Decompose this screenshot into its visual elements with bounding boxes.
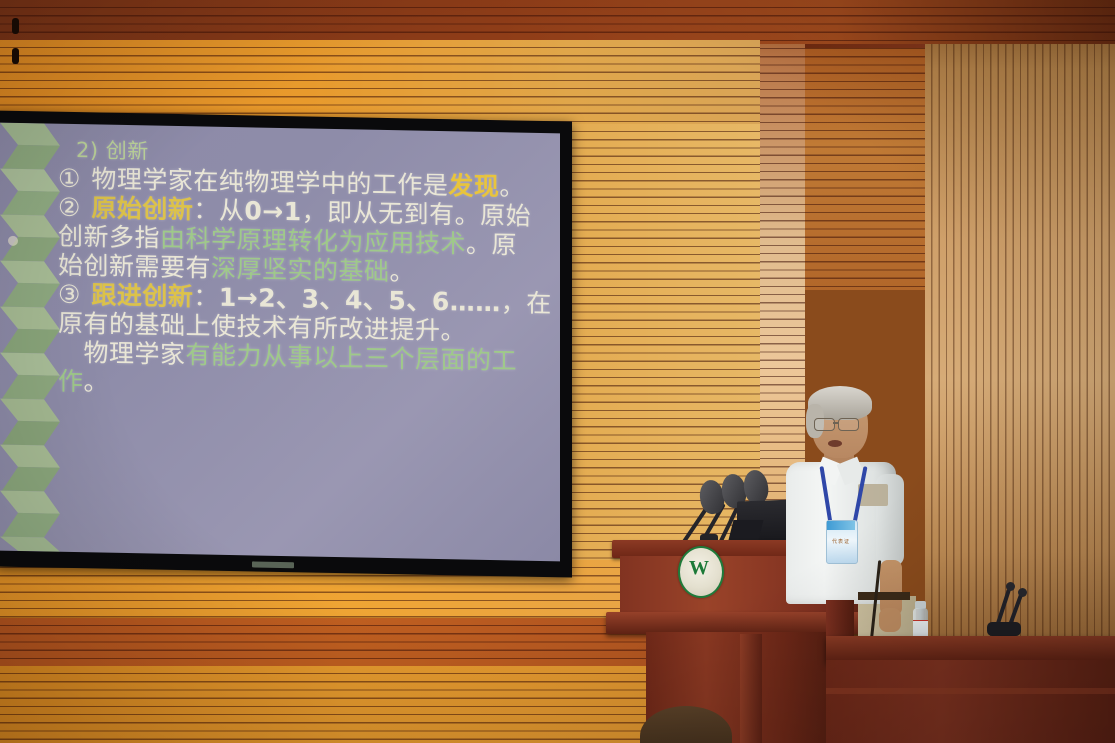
slide-text-run: 原始创新 [91, 194, 193, 225]
slide-text-run: ： [193, 283, 219, 312]
emblem-letter: W [688, 556, 710, 580]
screen-brand-logo [252, 561, 294, 568]
slat-texture [0, 666, 700, 743]
slide-text-run: 。 [499, 173, 525, 202]
slide-text-run: 。 [84, 368, 110, 397]
foreground-table-front [826, 660, 1115, 743]
wall-panel-top-dark-band [0, 0, 1115, 44]
slide-text-run: 发现 [448, 172, 499, 202]
slide-text-run: 始创新需要有 [58, 251, 211, 283]
eyeglasses-lens-left-icon [814, 418, 835, 431]
slide-text-block: 2) 创新 ① 物理学家在纯物理学中的工作是发现。② 原始创新：从0→1，即从无… [58, 138, 558, 406]
table-microphone-capsule-icon [1006, 582, 1015, 591]
slide-text-run: ，在 [501, 289, 552, 319]
wall-panel-lower-red [0, 618, 700, 668]
slat-texture [0, 0, 1115, 44]
slide-body-lines: ① 物理学家在纯物理学中的工作是发现。② 原始创新：从0→1，即从无到有。原始创… [58, 164, 558, 406]
slide-surface: 2) 创新 ① 物理学家在纯物理学中的工作是发现。② 原始创新：从0→1，即从无… [0, 123, 560, 562]
slide-line-marker: ① [58, 164, 81, 193]
speaker-vent [12, 18, 19, 34]
table-microphone-capsule-icon [1018, 588, 1027, 597]
slide-line-marker: ③ [58, 280, 81, 309]
slide-text-run: ：从 [193, 196, 244, 226]
slide-text-run: 创新多指 [58, 222, 160, 253]
badge-name-text: 代表证 [827, 538, 855, 545]
slide-text-run: 物理学家 [58, 338, 186, 369]
slide-text-run: 深厚坚实的基础 [211, 254, 390, 286]
slide-text-run: 。 [390, 257, 416, 286]
podium-base-rib [740, 634, 762, 743]
badge-header-bar [827, 521, 855, 530]
foreground-table-top [826, 636, 1115, 662]
table-microphone-base [987, 622, 1021, 636]
eyeglasses-bridge [833, 422, 838, 424]
slide-text-run: 作 [58, 367, 84, 396]
slide-text-run: 。原 [466, 230, 517, 260]
presenter-hand [879, 608, 901, 632]
lecture-hall-photo: 2) 创新 ① 物理学家在纯物理学中的工作是发现。② 原始创新：从0→1，即从无… [0, 0, 1115, 743]
slat-texture [0, 618, 700, 668]
presenter-mouth [828, 440, 842, 447]
projection-screen[interactable]: 2) 创新 ① 物理学家在纯物理学中的工作是发现。② 原始创新：从0→1，即从无… [0, 110, 572, 577]
slide-text-run: 0→1 [244, 197, 301, 227]
presenter-belt [858, 592, 910, 600]
speaker-vent [12, 48, 19, 64]
slide-line-marker: ② [58, 193, 81, 222]
vertical-slat-texture [925, 0, 1115, 690]
slide-text-run: 跟进创新 [91, 281, 193, 312]
slide-decoration-zigzag-icon [0, 123, 66, 552]
foreground-table-rail [826, 688, 1115, 694]
wall-panel-lower-orange-2 [0, 666, 700, 743]
eyeglasses-lens-right-icon [838, 418, 859, 431]
wall-panel-vertical-slat [925, 0, 1115, 690]
